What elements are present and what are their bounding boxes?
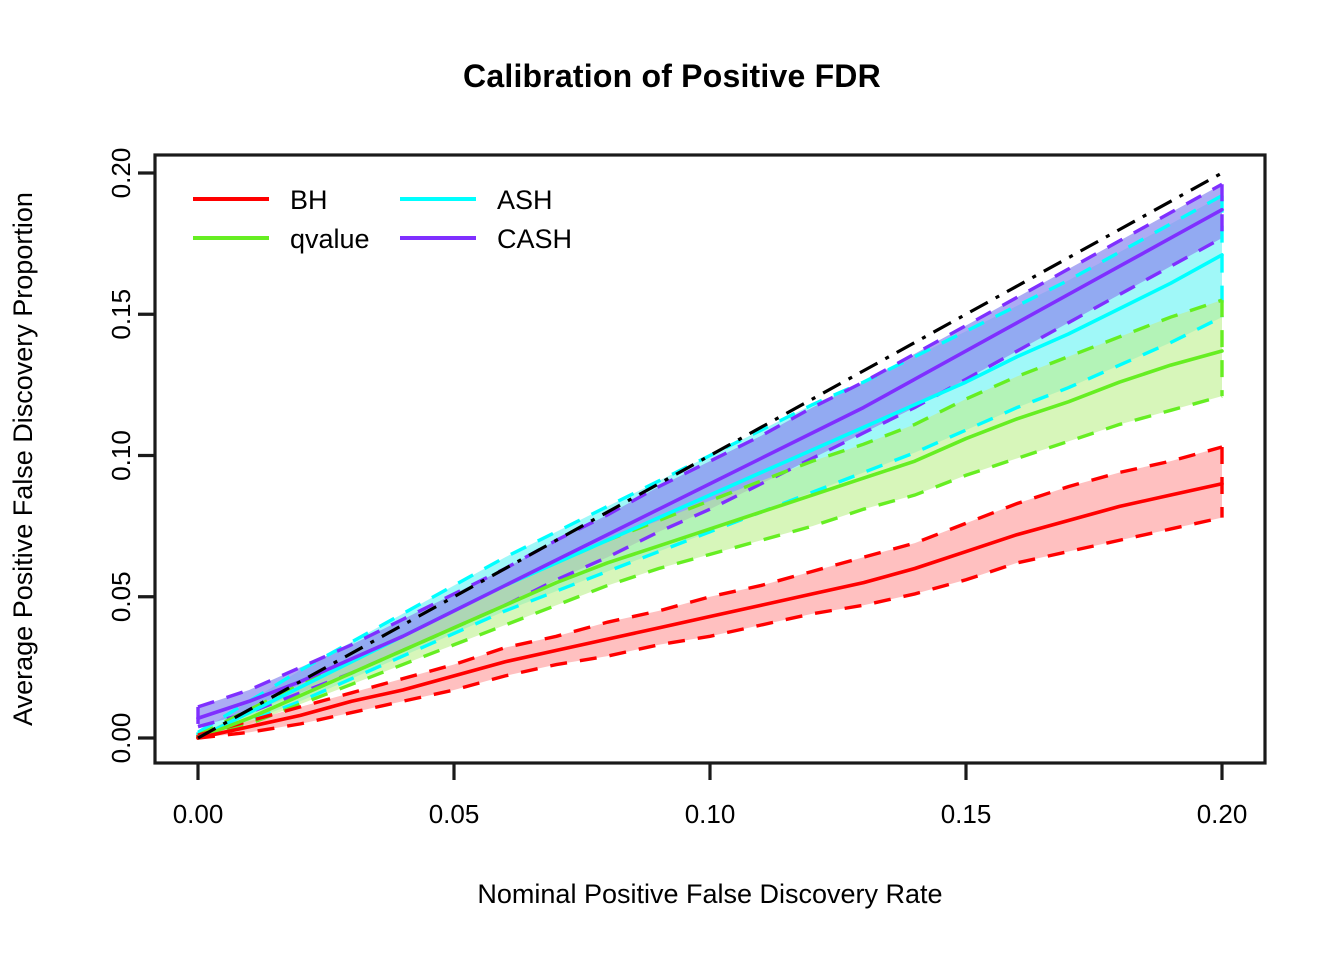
chart-legend: BHqvalueASHCASH [193, 185, 572, 254]
y-tick-label-0: 0.00 [106, 713, 136, 764]
band-lower-qvalue [198, 396, 1222, 738]
legend-label-ash: ASH [497, 185, 553, 215]
x-tick-label-2: 0.10 [685, 799, 736, 829]
chart-canvas: 0.000.050.100.150.200.000.050.100.150.20… [0, 0, 1344, 960]
legend-label-qvalue: qvalue [290, 224, 370, 254]
x-tick-label-1: 0.05 [429, 799, 480, 829]
legend-label-bh: BH [290, 185, 328, 215]
y-tick-label-2: 0.10 [106, 430, 136, 481]
y-tick-label-4: 0.20 [106, 148, 136, 199]
y-tick-label-1: 0.05 [106, 571, 136, 622]
x-axis-title: Nominal Positive False Discovery Rate [477, 879, 942, 909]
y-axis-title: Average Positive False Discovery Proport… [8, 192, 38, 726]
x-tick-label-3: 0.15 [941, 799, 992, 829]
legend-label-cash: CASH [497, 224, 572, 254]
x-tick-label-0: 0.00 [173, 799, 224, 829]
x-tick-label-4: 0.20 [1197, 799, 1248, 829]
y-tick-label-3: 0.15 [106, 289, 136, 340]
